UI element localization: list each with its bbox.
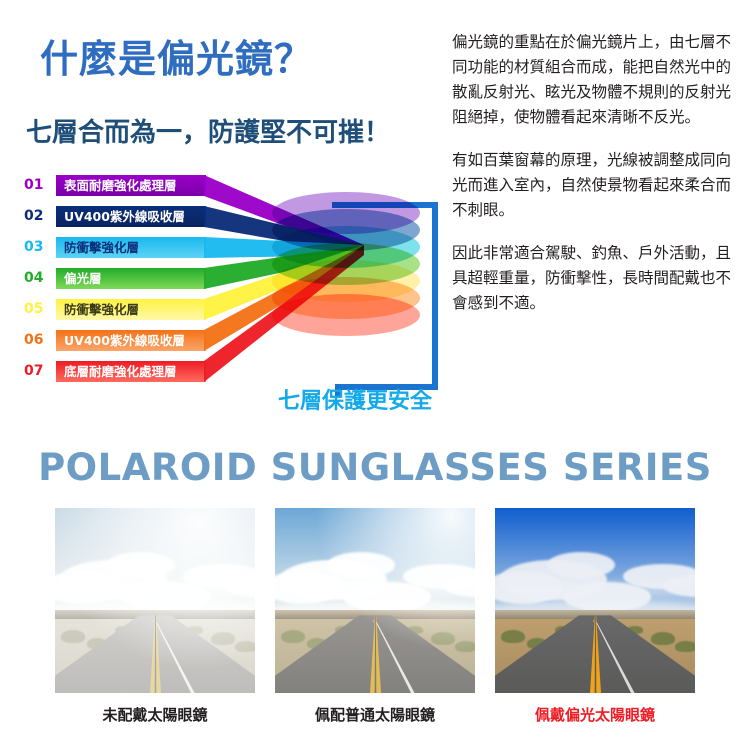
roadside-scrub (651, 632, 675, 645)
roadside-scrub (455, 641, 475, 652)
photo-caption: 佩戴偏光太陽眼鏡 (495, 704, 695, 725)
roadside-scrub (235, 641, 255, 652)
layer-number: 01 (24, 172, 52, 198)
photo-cell: 未配戴太陽眼鏡 (55, 508, 255, 738)
layer-label: 防衝擊強化層 (64, 237, 206, 258)
roadside-scrub (281, 630, 305, 643)
roadside-scrub (501, 630, 525, 643)
layer-label: 偏光層 (64, 268, 206, 289)
layer-number: 07 (24, 358, 52, 384)
paragraph-3: 因此非常適合駕駛、釣魚、戶外活動，且具超輕重量，防衝擊性，長時間配戴也不會感到不… (452, 241, 744, 316)
layer-number: 03 (24, 234, 52, 260)
series-title: POLAROID SUNGLASSES SERIES (0, 446, 750, 489)
roadside-scrub (675, 641, 695, 652)
comparison-photo-row: 未配戴太陽眼鏡佩配普通太陽眼鏡佩戴偏光太陽眼鏡 (55, 508, 695, 738)
layer-label: UV400紫外線吸收層 (64, 206, 206, 227)
layer-label: UV400紫外線吸收層 (64, 330, 206, 351)
infographic-page: 什麼是偏光鏡？ 七層合而為一，防護堅不可摧！ 偏光鏡的重點在於偏光鏡片上，由七層… (0, 0, 750, 750)
layer-number: 05 (24, 296, 52, 322)
layer-label: 防衝擊強化層 (64, 299, 206, 320)
paragraph-1: 偏光鏡的重點在於偏光鏡片上，由七層不同功能的材質組合而成，能把自然光中的散亂反射… (452, 30, 744, 130)
photo-cell: 佩配普通太陽眼鏡 (275, 508, 475, 738)
layer-label: 底層耐磨強化處理層 (64, 361, 206, 382)
roadside-scrub (211, 632, 235, 645)
photo-caption: 佩配普通太陽眼鏡 (275, 704, 475, 725)
lens-layer-ellipse (272, 192, 420, 234)
lens-stack-graphic (272, 192, 420, 342)
stack-caption: 七層保護更安全 (250, 383, 460, 415)
photo-cell: 佩戴偏光太陽眼鏡 (495, 508, 695, 738)
road-photo (275, 508, 475, 693)
layer-number: 02 (24, 203, 52, 229)
layer-label: 表面耐磨強化處理層 (64, 175, 206, 196)
roadside-scrub (61, 630, 85, 643)
photo-caption: 未配戴太陽眼鏡 (55, 704, 255, 725)
page-title: 什麼是偏光鏡？ (40, 28, 313, 83)
roadside-scrub (431, 632, 455, 645)
description-column: 偏光鏡的重點在於偏光鏡片上，由七層不同功能的材質組合而成，能把自然光中的散亂反射… (452, 30, 744, 316)
road-photo (55, 508, 255, 693)
layer-number: 06 (24, 327, 52, 353)
road-photo (495, 508, 695, 693)
page-subtitle: 七層合而為一，防護堅不可摧！ (26, 112, 390, 149)
layer-number: 04 (24, 265, 52, 291)
paragraph-2: 有如百葉窗幕的原理，光線被調整成同向光而進入室內，自然使景物看起來柔合而不刺眼。 (452, 148, 744, 223)
